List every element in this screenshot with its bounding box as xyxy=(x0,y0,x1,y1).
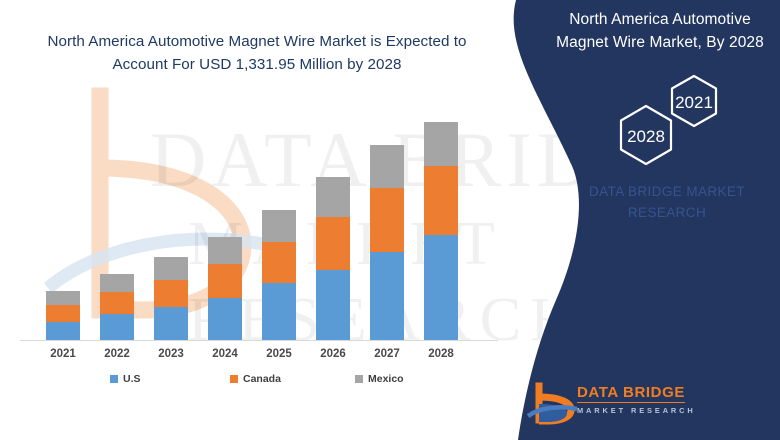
hexagon-badges: 2021 2028 xyxy=(598,72,738,184)
panel-title-line2: Magnet Wire Market, By 2028 xyxy=(546,31,774,54)
panel-brand-line1: DATA BRIDGE MARKET xyxy=(560,182,774,203)
logo-line1: DATA BRIDGE xyxy=(577,384,685,403)
panel-brand-text: DATA BRIDGE MARKET RESEARCH xyxy=(560,182,774,224)
data-bridge-logo: DATA BRIDGE MARKET RESEARCH xyxy=(527,382,703,426)
panel-brand-line2: RESEARCH xyxy=(560,203,774,224)
panel-title: North America Automotive Magnet Wire Mar… xyxy=(546,8,774,55)
infographic-canvas: DATA BRIDGE MARKET RESEARCH 202120222023… xyxy=(0,0,780,440)
logo-wordmark: DATA BRIDGE MARKET RESEARCH xyxy=(577,384,705,415)
panel-title-line1: North America Automotive xyxy=(546,8,774,31)
hexagon-label-2028: 2028 xyxy=(627,127,665,146)
logo-line2: MARKET RESEARCH xyxy=(577,406,705,415)
logo-b-mark xyxy=(527,382,579,426)
hexagon-label-2021: 2021 xyxy=(675,93,713,112)
